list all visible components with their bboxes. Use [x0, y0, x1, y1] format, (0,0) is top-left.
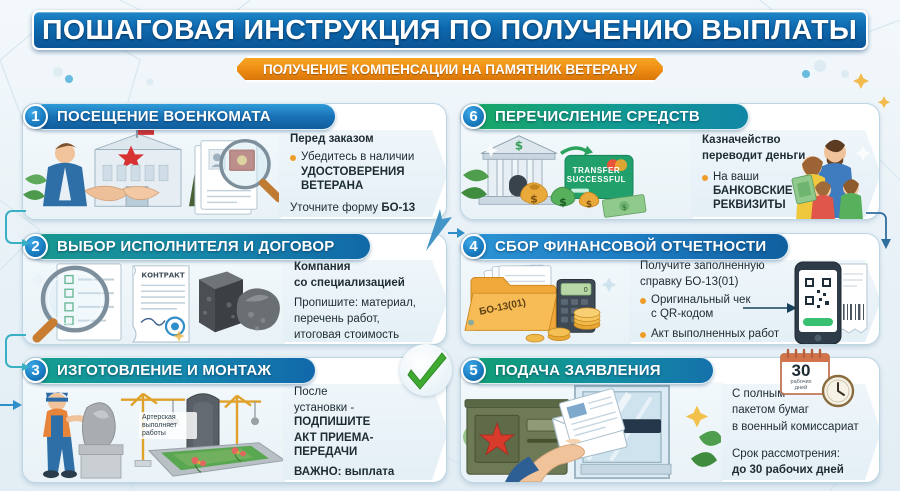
- step-3-line-3b: ПОДПИШИТЕ: [294, 416, 370, 428]
- bullet-dot-icon: [702, 175, 708, 181]
- step-3-important-rest: выплата только: [294, 466, 394, 482]
- page-title-bar: ПОШАГОВАЯ ИНСТРУКЦИЯ ПО ПОЛУЧЕНИЮ ВЫПЛАТ…: [32, 10, 868, 50]
- step-3-line-2b: После: [294, 386, 328, 398]
- step-card-1[interactable]: 1 ПОСЕЩЕНИЕ ВОЕНКОМАТА: [22, 103, 447, 220]
- step-6-bullet-1-line-2: БАНКОВСКИЕ: [713, 185, 793, 197]
- step-2-text-panel: Компания со специализацией Пропишите: ма…: [283, 260, 446, 342]
- step-1-note: Уточните форму БО-13: [290, 201, 432, 215]
- page-subtitle: ПОЛУЧЕНИЕ КОМПЕНСАЦИИ НА ПАМЯТНИК ВЕТЕРА…: [263, 62, 637, 77]
- step-5-line-3: в военный комиссариат: [732, 420, 865, 434]
- step-4-illustration: 0: [461, 258, 631, 344]
- step-3-check-badge: [400, 344, 452, 396]
- steps-grid: 1 ПОСЕЩЕНИЕ ВОЕНКОМАТА: [0, 95, 900, 491]
- step-card-3[interactable]: 3 ИЗГОТОВЛЕНИЕ И МОНТАЖ: [22, 357, 447, 483]
- connector-arrow-2-to-3: [4, 331, 30, 371]
- page-title: ПОШАГОВАЯ ИНСТРУКЦИЯ ПО ПОЛУЧЕНИЮ ВЫПЛАТ…: [42, 14, 857, 46]
- step-2-body-line-3: итоговая стоимость: [294, 328, 432, 342]
- step-4-heading-1: Получите заполненную: [640, 259, 801, 273]
- step-4-bullet-2-text: Акт выполненных работ: [651, 327, 779, 341]
- svg-text:$: $: [559, 195, 567, 208]
- step-4-bullet-1-line-1: Оригинальный чек: [651, 294, 751, 306]
- step-1-bullet-1: Убедитесь в наличии УДОСТОВЕРЕНИЯ ВЕТЕРА…: [290, 150, 432, 192]
- step-2-heading-2: со специализацией: [294, 276, 432, 290]
- step-1-illustration: [23, 128, 281, 219]
- step-4-bullet-2: Акт выполненных работ: [640, 327, 801, 341]
- step-4-heading-2: справку БО-13(01): [640, 275, 801, 289]
- step-3-mini-label: Артерская выполняет работы: [139, 412, 197, 439]
- svg-text:0: 0: [584, 286, 588, 294]
- step-4-title: СБОР ФИНАНСОВОЙ ОТЧЕТНОСТИ: [495, 238, 766, 255]
- step-3-illustration: Артерская выполняет работы: [23, 382, 285, 482]
- step-5-text-panel: С полным пакетом бумаг в военный комисса…: [721, 384, 879, 480]
- step-2-body-line-1: Пропишите: материал,: [294, 296, 432, 310]
- step-5-calendar-caption-2: дней: [777, 385, 825, 391]
- clock-icon: [821, 374, 855, 408]
- step-1-heading: Перед заказом: [290, 132, 432, 146]
- step-card-6[interactable]: 6 ПЕРЕЧИСЛЕНИЕ СРЕДСТВ $: [460, 103, 880, 220]
- step-6-bullet-1-line-1: На ваши: [713, 171, 759, 183]
- step-6-card-label-2: SUCCESSFUL: [565, 176, 627, 184]
- step-card-4[interactable]: 4 СБОР ФИНАНСОВОЙ ОТЧЕТНОСТИ: [460, 233, 880, 345]
- step-2-heading-1: Компания: [294, 260, 432, 274]
- step-3-important-line-1: ВАЖНО: выплата только: [294, 465, 432, 482]
- connector-arrow-1-to-2: [4, 207, 30, 247]
- connector-arrow-4-to-5: [862, 211, 892, 253]
- step-1-note-text: Уточните форму: [290, 202, 381, 214]
- step-1-title: ПОСЕЩЕНИЕ ВОЕНКОМАТА: [57, 108, 271, 125]
- step-2-title: ВЫБОР ИСПОЛНИТЕЛЯ И ДОГОВОР: [57, 238, 334, 255]
- step-5-footer-2: до 30 рабочих дней: [732, 463, 865, 477]
- step-2-body-line-2: перечень работ,: [294, 312, 432, 326]
- step-6-number: 6: [461, 104, 486, 129]
- step-3-line-2a: выполняет работы: [294, 382, 403, 384]
- svg-text:$: $: [515, 139, 523, 153]
- step-1-number: 1: [23, 104, 48, 129]
- svg-text:$: $: [530, 192, 538, 205]
- step-card-5[interactable]: 5 ПОДАЧА ЗАЯВЛЕНИЯ: [460, 357, 880, 483]
- phone-qr-receipt-illustration: [787, 260, 871, 344]
- family-illustration: [787, 132, 879, 219]
- bullet-dot-icon: [290, 155, 296, 161]
- page-header: ПОШАГОВАЯ ИНСТРУКЦИЯ ПО ПОЛУЧЕНИЮ ВЫПЛАТ…: [0, 6, 900, 88]
- step-1-text-panel: Перед заказом Убедитесь в наличии УДОСТО…: [279, 130, 446, 217]
- step-5-calendar-day: 30: [777, 362, 825, 379]
- step-3-text-panel: Мастерская выполняет работы После устано…: [283, 384, 446, 480]
- step-1-bullet-1-line-1: Убедитесь в наличии: [301, 151, 414, 163]
- connector-arrow-5-to-6: [448, 219, 466, 247]
- step-card-2[interactable]: 2 ВЫБОР ИСПОЛНИТЕЛЯ И ДОГОВОР: [22, 233, 447, 345]
- step-6-title: ПЕРЕЧИСЛЕНИЕ СРЕДСТВ: [495, 108, 700, 125]
- step-5-title: ПОДАЧА ЗАЯВЛЕНИЯ: [495, 362, 661, 379]
- svg-text:$: $: [586, 200, 592, 210]
- bullet-dot-icon: [640, 332, 646, 338]
- step-5-header: 5 ПОДАЧА ЗАЯВЛЕНИЯ: [469, 357, 714, 384]
- step-1-note-bold: БО-13: [381, 202, 415, 214]
- step-6-bullet-1-line-3: РЕКВИЗИТЫ: [713, 199, 786, 211]
- step-3-important-label: ВАЖНО:: [294, 466, 342, 478]
- step-2-illustration: КОНТРАКТ: [23, 258, 285, 344]
- step-3-line-3a: установки -: [294, 402, 354, 414]
- step-2-header: 2 ВЫБОР ИСПОЛНИТЕЛЯ И ДОГОВОР: [31, 233, 371, 260]
- step-1-bullet-1-line-2: УДОСТОВЕРЕНИЯ ВЕТЕРАНА: [301, 166, 405, 192]
- step-6-illustration: $ $: [461, 128, 693, 219]
- step-6-header: 6 ПЕРЕЧИСЛЕНИЕ СРЕДСТВ: [469, 103, 749, 130]
- svg-text:КОНТРАКТ: КОНТРАКТ: [141, 272, 185, 280]
- check-icon: [404, 348, 448, 392]
- step-3-title: ИЗГОТОВЛЕНИЕ И МОНТАЖ: [57, 362, 271, 379]
- step-3-header: 3 ИЗГОТОВЛЕНИЕ И МОНТАЖ: [31, 357, 316, 384]
- page-subtitle-bar: ПОЛУЧЕНИЕ КОМПЕНСАЦИИ НА ПАМЯТНИК ВЕТЕРА…: [235, 56, 665, 82]
- step-1-header: 1 ПОСЕЩЕНИЕ ВОЕНКОМАТА: [31, 103, 336, 130]
- step-4-header: 4 СБОР ФИНАНСОВОЙ ОТЧЕТНОСТИ: [469, 233, 789, 260]
- step-4-bullet-1-line-2: с QR-кодом: [651, 308, 713, 320]
- bullet-dot-icon: [640, 298, 646, 304]
- step-3-line-4: АКТ ПРИЕМА-ПЕРЕДАЧИ: [294, 431, 432, 459]
- connector-arrow-into-step-3: [0, 395, 24, 415]
- step-5-number: 5: [461, 358, 486, 383]
- step-3-line-3: установки - ПОДПИШИТЕ: [294, 401, 432, 429]
- step-5-illustration: [461, 382, 723, 482]
- step-5-footer-1: Срок рассмотрения:: [732, 447, 865, 461]
